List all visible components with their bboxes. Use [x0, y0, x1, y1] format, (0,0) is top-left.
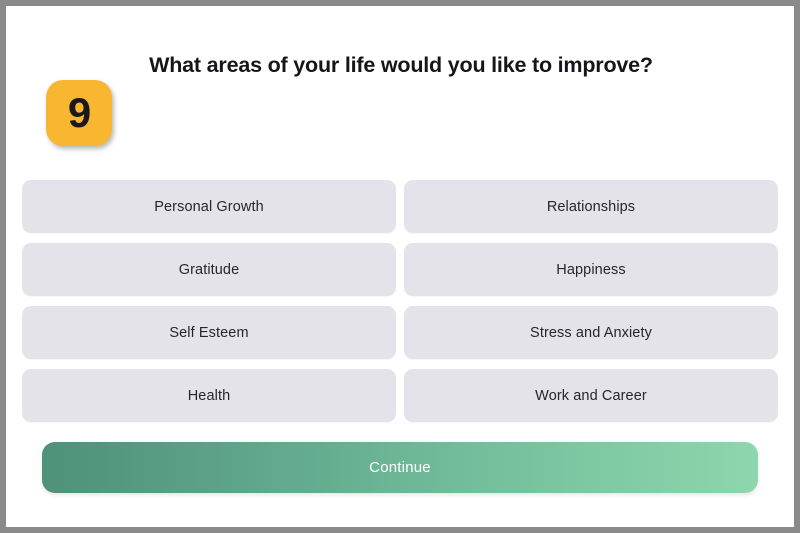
- option-label: Relationships: [547, 199, 635, 215]
- step-number-badge-label: 9: [68, 92, 90, 134]
- app-frame: What areas of your life would you like t…: [0, 0, 800, 533]
- step-number-badge: 9: [46, 80, 112, 146]
- continue-button[interactable]: Continue: [42, 442, 758, 493]
- page-title: What areas of your life would you like t…: [76, 52, 726, 78]
- screen-header: What areas of your life would you like t…: [6, 6, 794, 171]
- option-personal-growth[interactable]: Personal Growth: [22, 180, 396, 233]
- option-self-esteem[interactable]: Self Esteem: [22, 306, 396, 359]
- option-stress-and-anxiety[interactable]: Stress and Anxiety: [404, 306, 778, 359]
- option-label: Health: [188, 388, 231, 404]
- continue-button-label: Continue: [369, 459, 431, 476]
- option-relationships[interactable]: Relationships: [404, 180, 778, 233]
- option-label: Work and Career: [535, 388, 647, 404]
- option-label: Stress and Anxiety: [530, 325, 652, 341]
- option-label: Gratitude: [179, 262, 240, 278]
- option-gratitude[interactable]: Gratitude: [22, 243, 396, 296]
- option-label: Happiness: [556, 262, 625, 278]
- option-happiness[interactable]: Happiness: [404, 243, 778, 296]
- option-label: Self Esteem: [169, 325, 248, 341]
- option-label: Personal Growth: [154, 199, 264, 215]
- option-health[interactable]: Health: [22, 369, 396, 422]
- option-work-and-career[interactable]: Work and Career: [404, 369, 778, 422]
- questionnaire-screen: What areas of your life would you like t…: [6, 6, 794, 527]
- options-grid: Personal Growth Relationships Gratitude …: [22, 180, 778, 422]
